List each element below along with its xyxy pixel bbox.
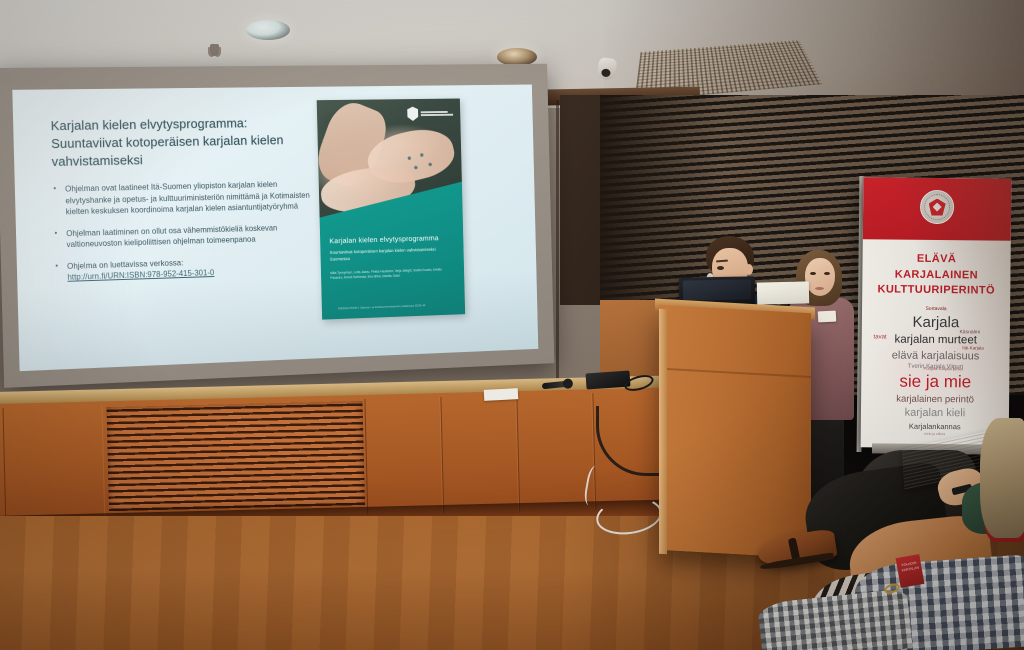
slide-bullet-2: Ohjelman laatiminen on ollut osa vähemmi… [53, 222, 311, 252]
wordcloud-term: Itäi-Karjala [962, 345, 984, 350]
ministry-logo-text-lines [421, 111, 453, 117]
slide-text-column: Karjalan kielen elvytysprogramma: Suunta… [12, 87, 323, 371]
cabinet-door[interactable] [516, 393, 595, 511]
mouth [815, 287, 824, 290]
slide-bullet-list: Ohjelman ovat laatineet Itä-Suomen yliop… [52, 179, 312, 284]
paper-on-ledge [484, 388, 519, 401]
slide-urn-link[interactable]: http://urn.fi/URN:ISBN:978-952-415-301-0 [67, 269, 214, 283]
ear [745, 264, 753, 275]
banner-wordcloud: Sortavala Karjala Käsnälmi tavat karjala… [861, 303, 1010, 435]
cabinet-door[interactable] [3, 405, 106, 523]
name-badge [818, 311, 837, 323]
book-cover-subtitle: Suuntaviivat kotoperäisen karjalan kiele… [330, 246, 453, 262]
banner-heading-line-3: KULTTUURIPERINTÖ [868, 283, 1004, 300]
banner-heading-line-2: KARJALAINEN [868, 267, 1004, 284]
slide-bullet-1: Ohjelman ovat laatineet Itä-Suomen yliop… [52, 179, 310, 219]
slide-image-column: Karjalan kielen elvytysprogramma Suuntav… [316, 85, 538, 359]
wall-seam [556, 100, 559, 400]
ministry-logo [407, 106, 453, 121]
rollup-banner: ELÄVÄ KARJALAINEN KULTTUURIPERINTÖ Sorta… [861, 177, 1012, 449]
tattoo-pattern [402, 150, 439, 175]
lion-crest-icon [407, 107, 418, 121]
banner-heading: ELÄVÄ KARJALAINEN KULTTUURIPERINTÖ [868, 251, 1004, 299]
wordcloud-term: sie ja mie [899, 372, 971, 393]
wordcloud-term: elävä karjalaisuus [892, 350, 980, 363]
book-cover-authors: Milla Tynnyrinen, Lotta Jaanu, Pekka Hau… [330, 267, 453, 281]
podium [659, 305, 811, 558]
podium-side-edge [659, 309, 667, 554]
wordcloud-term: Karjala [912, 314, 959, 331]
conference-room-photo: Karjalan kielen elvytysprogramma: Suunta… [0, 0, 1024, 650]
banner-heading-line-1: ELÄVÄ [868, 251, 1004, 268]
book-cover-footer: RESOLUTION | Opetus- ja kulttuuriministe… [338, 302, 456, 310]
eye [717, 266, 724, 270]
sprinkler-icon [210, 44, 219, 56]
wordcloud-term: karjalan kieli [905, 407, 966, 420]
book-cover-title: Karjalan kielen elvytysprogramma [329, 233, 454, 245]
audience-blonde-hair [980, 418, 1024, 538]
projected-slide: Karjalan kielen elvytysprogramma: Suunta… [12, 85, 538, 372]
karjalan-liitto-emblem-icon [920, 190, 954, 224]
wordcloud-term: kielo ja elämä [924, 432, 945, 436]
slide-title: Karjalan kielen elvytysprogramma: Suunta… [51, 114, 310, 171]
papers-on-podium [757, 281, 810, 304]
speaker-second-face [805, 258, 835, 296]
cabinet-ventilation-grille [107, 401, 365, 511]
wordcloud-term: Sortavala [925, 306, 946, 312]
book-cover-image: Karjalan kielen elvytysprogramma Suuntav… [317, 99, 465, 320]
wordcloud-term: karjalainen perintö [896, 394, 974, 406]
slide-bullet-3: Ohjelma on luettavissa verkossa: http://… [54, 253, 312, 284]
cabinet-door[interactable] [440, 395, 519, 513]
cabinet-door[interactable] [364, 397, 443, 515]
wordcloud-term: Karjalankannas [909, 422, 961, 432]
wordcloud-term: tavat [874, 334, 887, 340]
ceiling-downlight-icon [246, 20, 290, 40]
wordcloud-term: Pohjois-Karjala juhlat [924, 366, 963, 371]
projection-screen-frame: Karjalan kielen elvytysprogramma: Suunta… [0, 64, 554, 388]
